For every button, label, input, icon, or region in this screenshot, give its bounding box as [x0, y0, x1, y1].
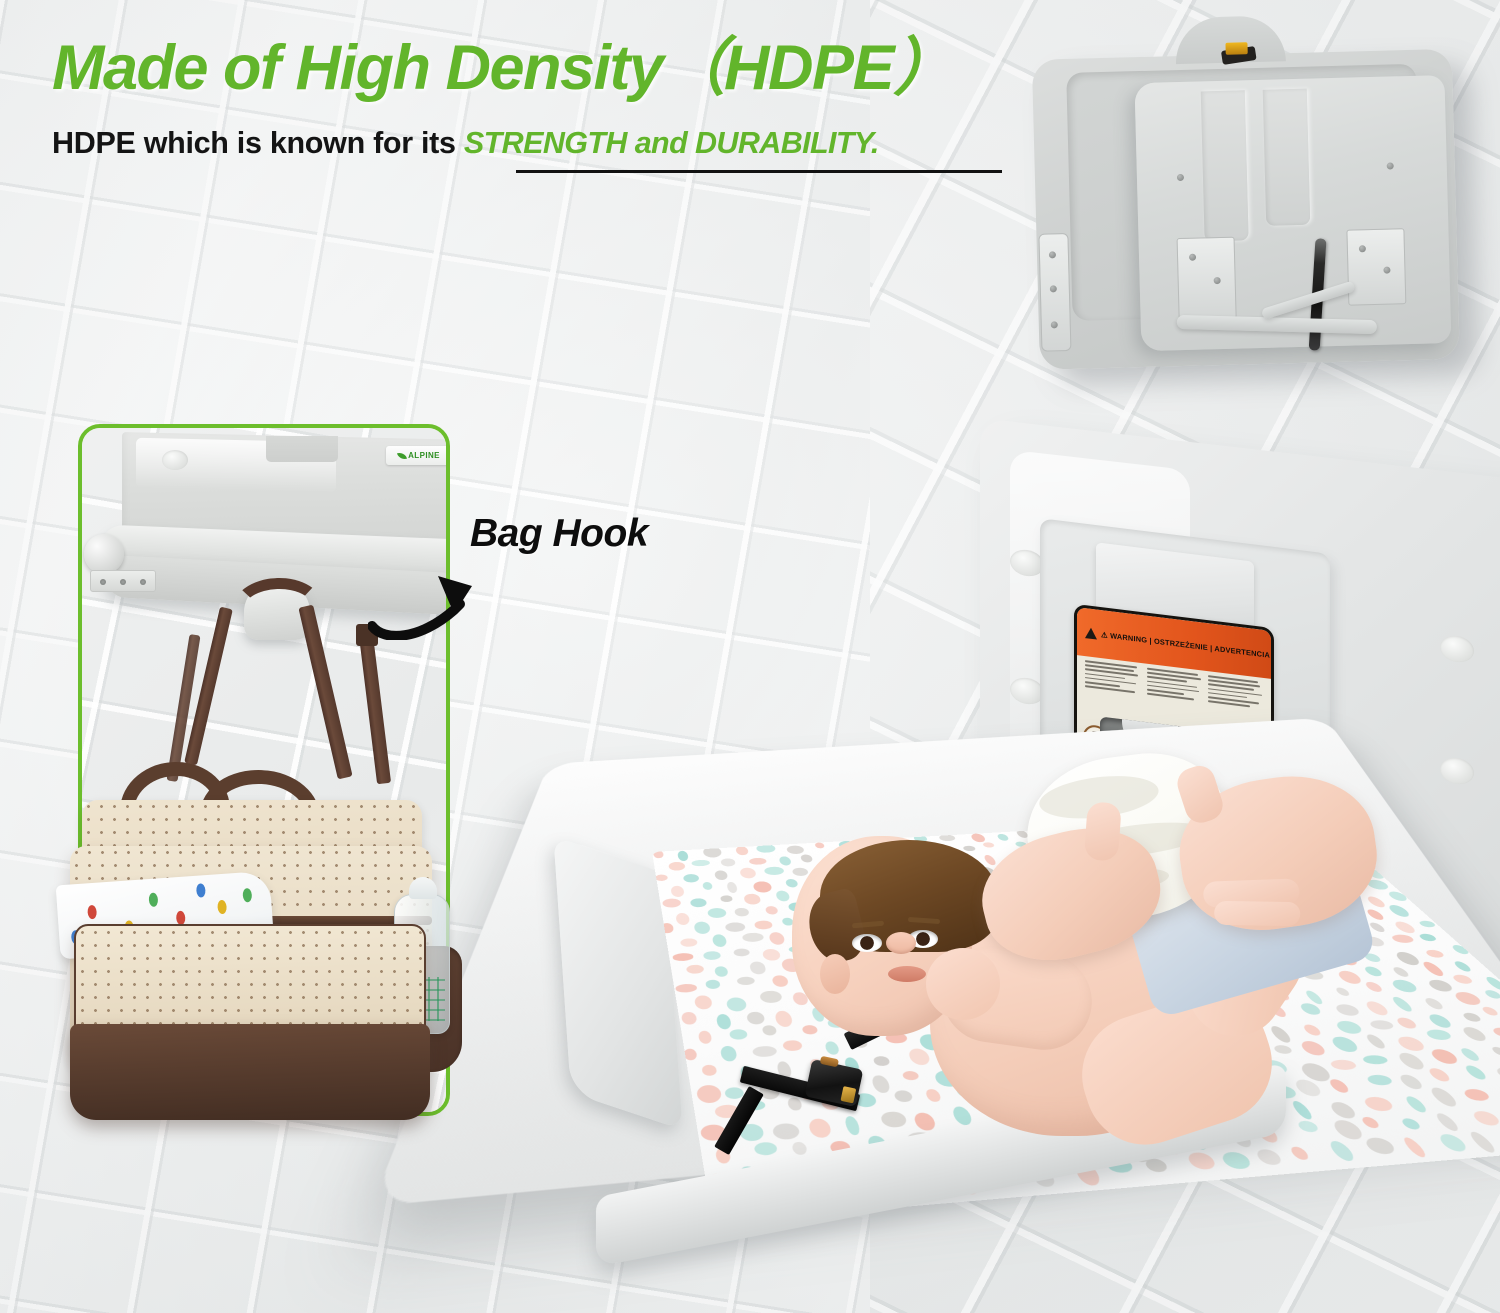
subtitle: HDPE which is known for its STRENGTH and… [52, 126, 1030, 161]
folded-support-bar [1177, 315, 1377, 334]
bag-hook-callout: Bag Hook [470, 512, 648, 556]
folded-rib-left [1201, 90, 1249, 241]
header-block: Made of High Density（HDPE） HDPE which is… [0, 0, 1030, 173]
shelf-notch [266, 436, 338, 462]
scene-canvas: Made of High Density（HDPE） HDPE which is… [0, 0, 1500, 1313]
bag-bottom-panel [70, 1024, 430, 1120]
open-changing-station: ⚠ WARNING | OSTRZEŻENIE | ADVERTENCIA AL… [540, 440, 1500, 1313]
folded-latch-tab [1225, 42, 1247, 55]
folded-hinge-plate [1038, 233, 1071, 352]
bottle-nipple [409, 877, 437, 899]
baby-mouth [888, 966, 926, 982]
page-title: Made of High Density（HDPE） [52, 36, 1030, 100]
baby-nose [886, 932, 916, 954]
diaper-bag [60, 766, 458, 1146]
bag-hook-label: Bag Hook [470, 512, 648, 556]
folded-front-panel [1134, 75, 1451, 351]
folded-link-arm [1261, 281, 1356, 320]
baby-ear [820, 954, 850, 994]
warning-triangle-icon [1085, 627, 1097, 639]
leaf-icon [397, 450, 407, 460]
baby-fist [926, 948, 1000, 1020]
subtitle-underline [516, 170, 1002, 173]
folded-changing-station [1025, 26, 1490, 406]
curved-arrow-up-right-icon [368, 556, 518, 640]
inset-brand-badge: ALPINE [386, 446, 450, 465]
subtitle-plain: HDPE which is known for its [52, 126, 464, 160]
shelf-hinge-knob [84, 534, 124, 574]
shelf-hinge-plate [90, 570, 156, 592]
folded-bracket-left [1177, 237, 1237, 320]
subtitle-emphasis: STRENGTH and DURABILITY. [464, 126, 879, 160]
baby-eye-left [852, 934, 882, 952]
folded-rib-right [1263, 89, 1311, 226]
warning-headline-text: ⚠ WARNING | OSTRZEŻENIE | ADVERTENCIA [1101, 630, 1270, 660]
folded-bracket-right [1346, 228, 1406, 305]
inset-brand-name: ALPINE [408, 451, 440, 460]
